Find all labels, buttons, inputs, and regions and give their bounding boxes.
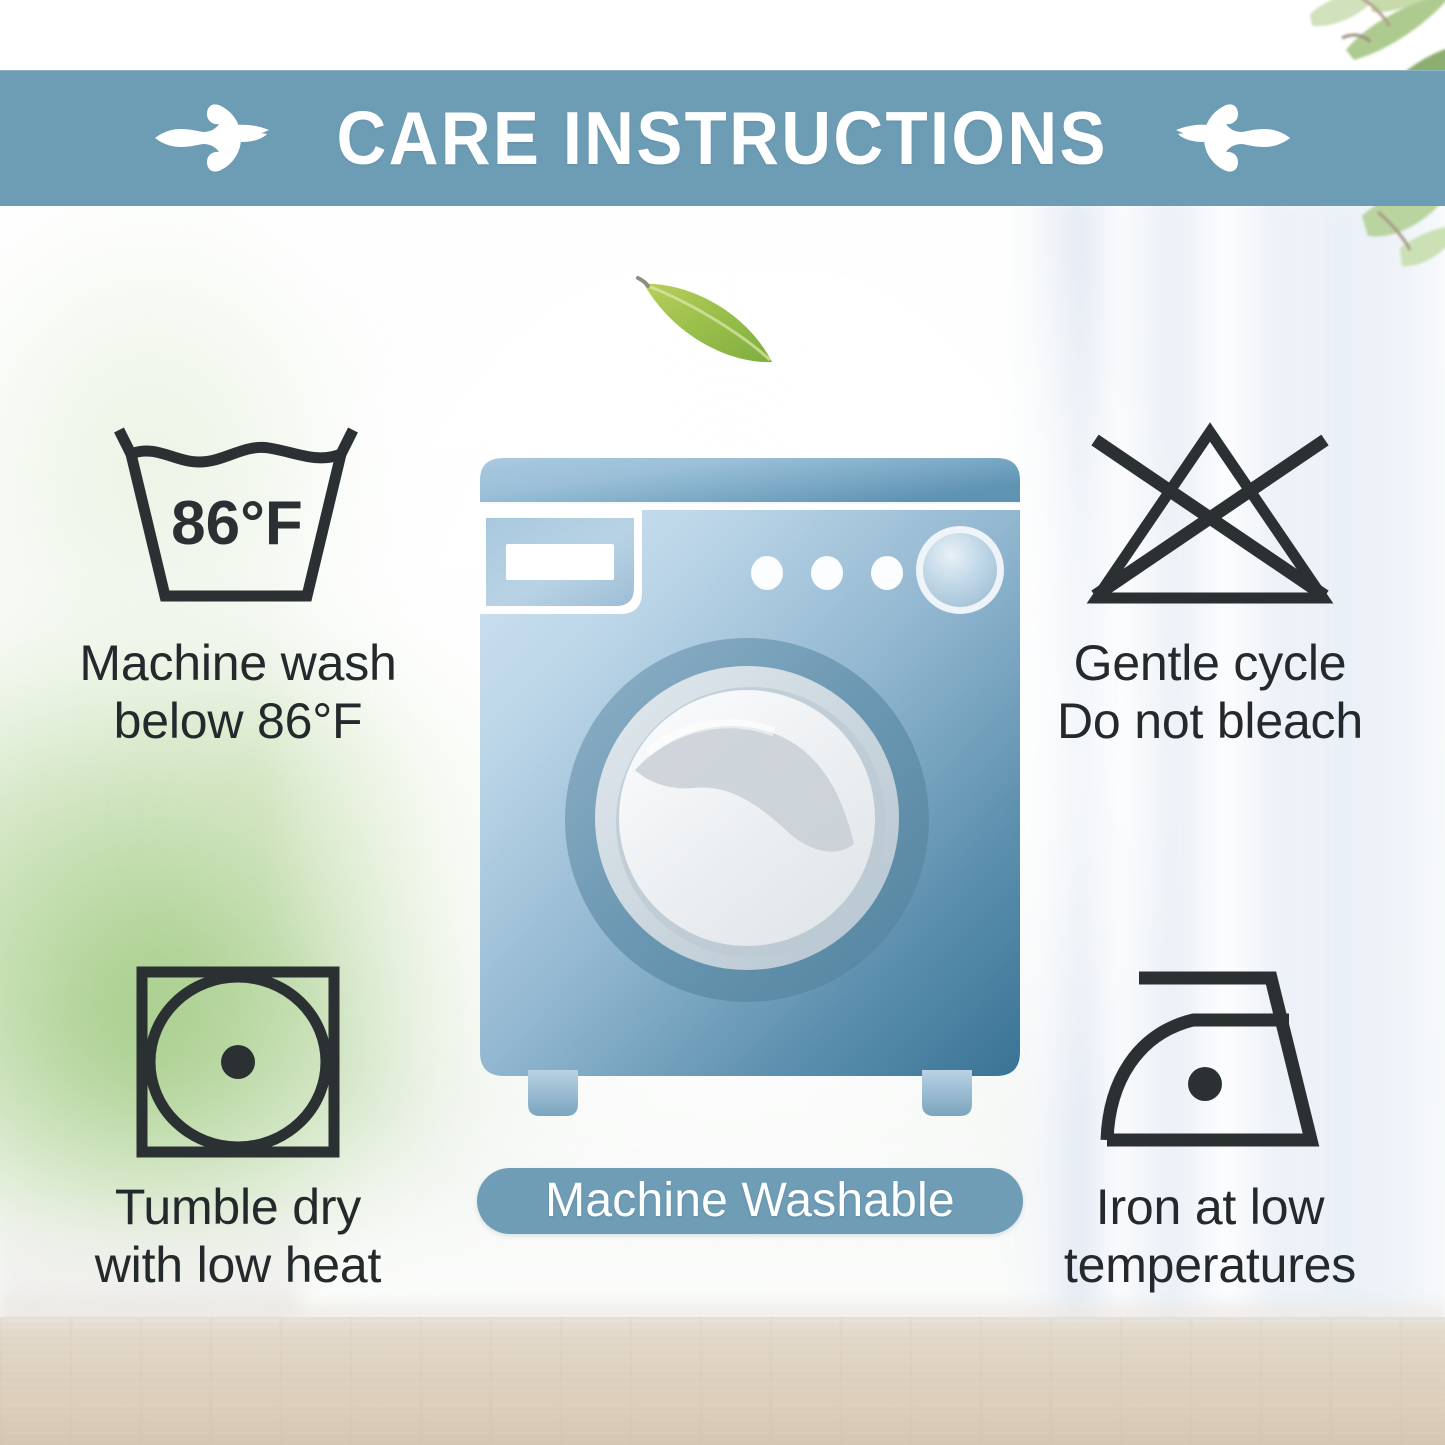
care-symbol-do-not-bleach: Gentle cycle Do not bleach	[1000, 418, 1420, 750]
tumble-dry-low-icon	[118, 962, 358, 1162]
washer-control-dot	[811, 556, 843, 590]
care-label-do-not-bleach: Gentle cycle Do not bleach	[1057, 634, 1363, 750]
machine-washable-badge-label: Machine Washable	[545, 1177, 955, 1225]
care-label-machine-wash: Machine wash below 86°F	[79, 634, 396, 750]
wood-surface-grain	[0, 1317, 1445, 1445]
washer-foot	[922, 1070, 972, 1116]
care-symbol-tumble-dry: Tumble dry with low heat	[28, 962, 448, 1294]
wash-temperature-value: 86°F	[171, 489, 303, 558]
washer-foot	[528, 1070, 578, 1116]
washing-machine-illustration	[470, 440, 1030, 1130]
washer-control-dot	[871, 556, 903, 590]
banner-title: CARE INSTRUCTIONS	[313, 101, 1132, 176]
washer-dial-knob	[923, 533, 997, 607]
wash-tub-icon: 86°F	[103, 418, 373, 618]
wood-surface-edge	[0, 1295, 1445, 1317]
care-symbol-machine-wash: 86°F Machine wash below 86°F	[28, 418, 448, 750]
care-symbol-iron-low: Iron at low temperatures	[1000, 962, 1420, 1294]
iron-one-dot-icon	[1075, 962, 1345, 1162]
triangle-crossed-out-icon	[1075, 418, 1345, 618]
washer-top-lid	[480, 458, 1020, 504]
care-label-iron-low: Iron at low temperatures	[1064, 1178, 1356, 1294]
fleur-de-lis-icon	[1168, 86, 1296, 190]
washer-control-dot	[751, 556, 783, 590]
care-instructions-banner: CARE INSTRUCTIONS	[0, 70, 1445, 206]
fleur-de-lis-icon	[149, 86, 277, 190]
machine-washable-badge: Machine Washable	[477, 1168, 1023, 1234]
washer-drawer-slot	[506, 544, 614, 580]
leaf-icon	[632, 268, 792, 378]
care-label-tumble-dry: Tumble dry with low heat	[95, 1178, 381, 1294]
